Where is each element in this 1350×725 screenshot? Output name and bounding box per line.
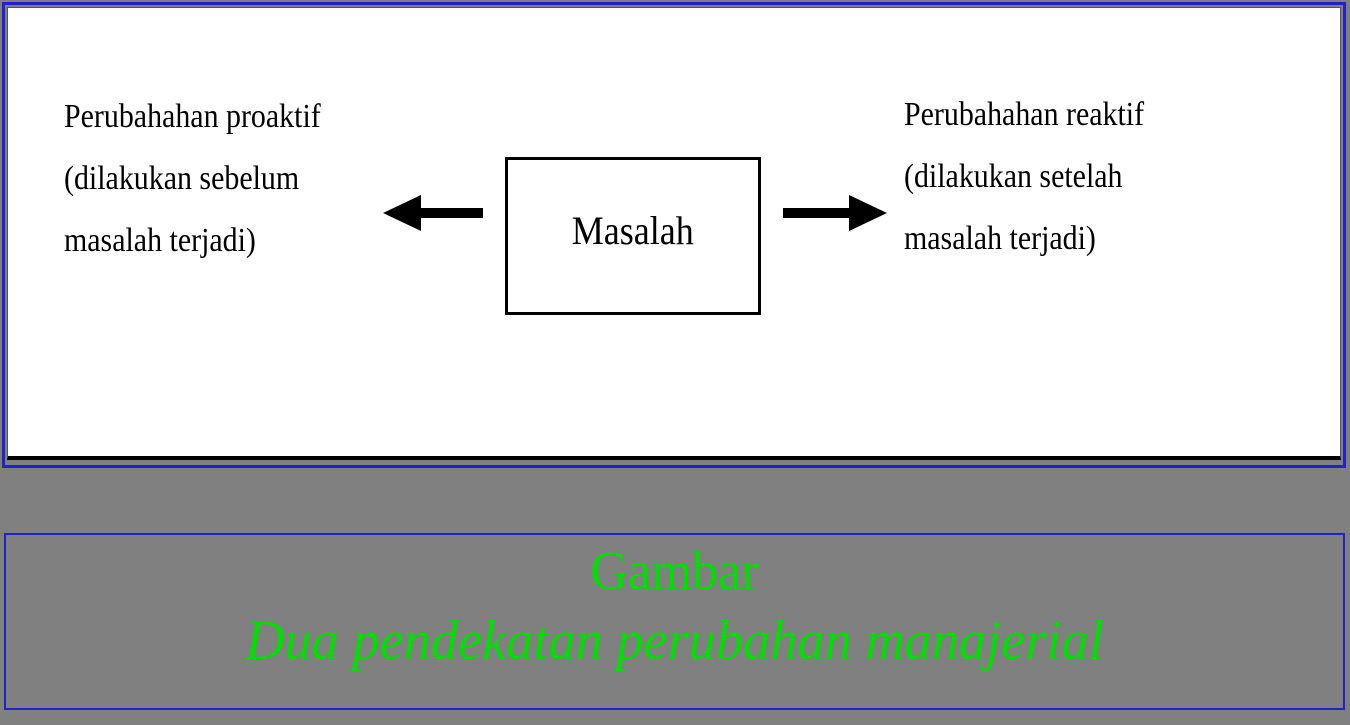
caption-title: Gambar (39, 537, 1309, 605)
arrow-right-icon (783, 193, 887, 233)
left-label-line-2: (dilakukan sebelum (64, 148, 321, 210)
arrow-left-icon (383, 193, 483, 233)
diagram-canvas: Perubahahan proaktif (dilakukan sebelum … (7, 7, 1341, 460)
right-label-line-3: masalah terjadi) (904, 208, 1144, 270)
right-label-line-1: Perubahahan reaktif (904, 84, 1144, 146)
center-node-label: Masalah (572, 207, 694, 254)
left-label-line-3: masalah terjadi) (64, 210, 321, 272)
figure-caption-panel: Gambar Dua pendekatan perubahan manajeri… (4, 533, 1345, 710)
center-node-masalah: Masalah (505, 157, 761, 315)
right-label-line-2: (dilakukan setelah (904, 146, 1144, 208)
right-label-reactive-change: Perubahahan reaktif (dilakukan setelah m… (904, 84, 1144, 270)
left-label-proactive-change: Perubahahan proaktif (dilakukan sebelum … (64, 86, 321, 272)
diagram-panel: Perubahahan proaktif (dilakukan sebelum … (2, 2, 1346, 468)
caption-subtitle: Dua pendekatan perubahan manajerial (26, 605, 1323, 677)
left-label-line-1: Perubahahan proaktif (64, 86, 321, 148)
